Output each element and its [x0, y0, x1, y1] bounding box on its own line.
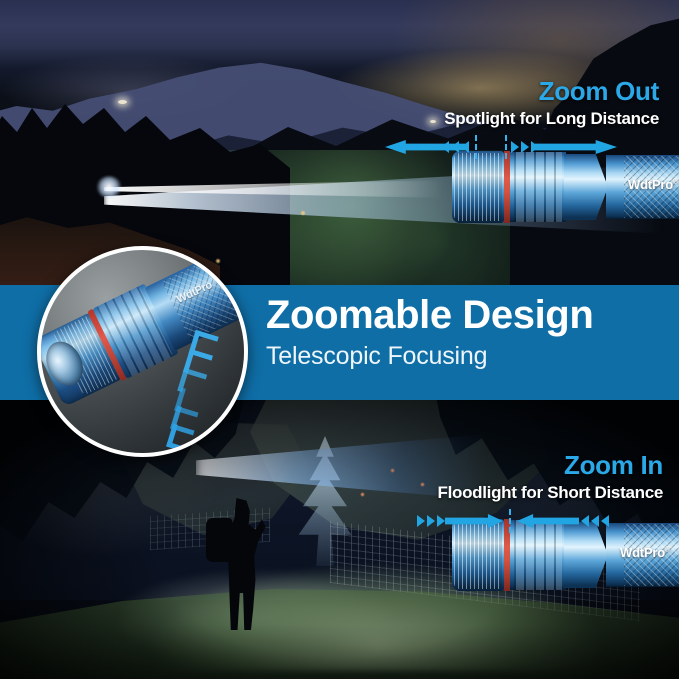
distant-light [118, 100, 127, 104]
banner-subtitle: Telescopic Focusing [266, 342, 666, 371]
dashed-divider [505, 135, 507, 159]
chevron-left-icon [601, 515, 609, 527]
ember-light [300, 210, 306, 216]
chevron-right-icon [437, 515, 445, 527]
dashed-divider [509, 509, 511, 533]
chevron-left-icon [451, 141, 459, 153]
mini-chevrons-left [441, 141, 469, 153]
flashlight-collar-grooves [514, 152, 562, 222]
callout-zoom-in: Zoom In Floodlight for Short Distance [323, 452, 663, 535]
brand-name: WdtPro [620, 545, 665, 560]
mini-chevrons-left [581, 515, 609, 527]
banner-text-group: Zoomable Design Telescopic Focusing [266, 295, 666, 371]
arrow-right [445, 514, 503, 528]
chevron-left-icon [591, 515, 599, 527]
arrow-right [535, 140, 617, 154]
chevron-right-icon [521, 141, 529, 153]
banner-title: Zoomable Design [266, 295, 666, 337]
callout-subtitle: Spotlight for Long Distance [329, 109, 659, 129]
chevron-left-icon [581, 515, 589, 527]
chevron-right-icon [417, 515, 425, 527]
chevron-left-icon [461, 141, 469, 153]
product-marketing-image: WdtPro® Zoom Out Spotlight for Long Dist… [0, 0, 679, 679]
callout-subtitle: Floodlight for Short Distance [323, 483, 663, 503]
circular-product-inset: WdtPro [37, 246, 248, 457]
trademark-symbol: ® [665, 547, 670, 554]
flashlight-cooling-fins [454, 153, 502, 221]
chevron-right-icon [511, 141, 519, 153]
arrow-left [517, 514, 579, 528]
callout-title: Zoom Out [329, 78, 659, 104]
callout-zoom-out: Zoom Out Spotlight for Long Distance [329, 78, 659, 161]
brand-name: WdtPro [628, 177, 673, 192]
chevron-left-icon [441, 141, 449, 153]
trademark-symbol: ® [673, 179, 678, 186]
arrow-indicator-inward [323, 509, 663, 535]
chevron-right-icon [427, 515, 435, 527]
flashlight-taper [564, 154, 608, 220]
mini-chevrons-right [511, 141, 539, 153]
brand-label: WdtPro® [628, 177, 678, 192]
product-flashlight-zoom-out: WdtPro® [452, 151, 679, 223]
mini-chevrons-right [417, 515, 445, 527]
dashed-divider [475, 135, 477, 159]
spotlight-source [96, 176, 122, 198]
callout-title: Zoom In [323, 452, 663, 478]
arrow-indicator-outward [329, 135, 659, 161]
brand-label: WdtPro® [620, 545, 670, 560]
